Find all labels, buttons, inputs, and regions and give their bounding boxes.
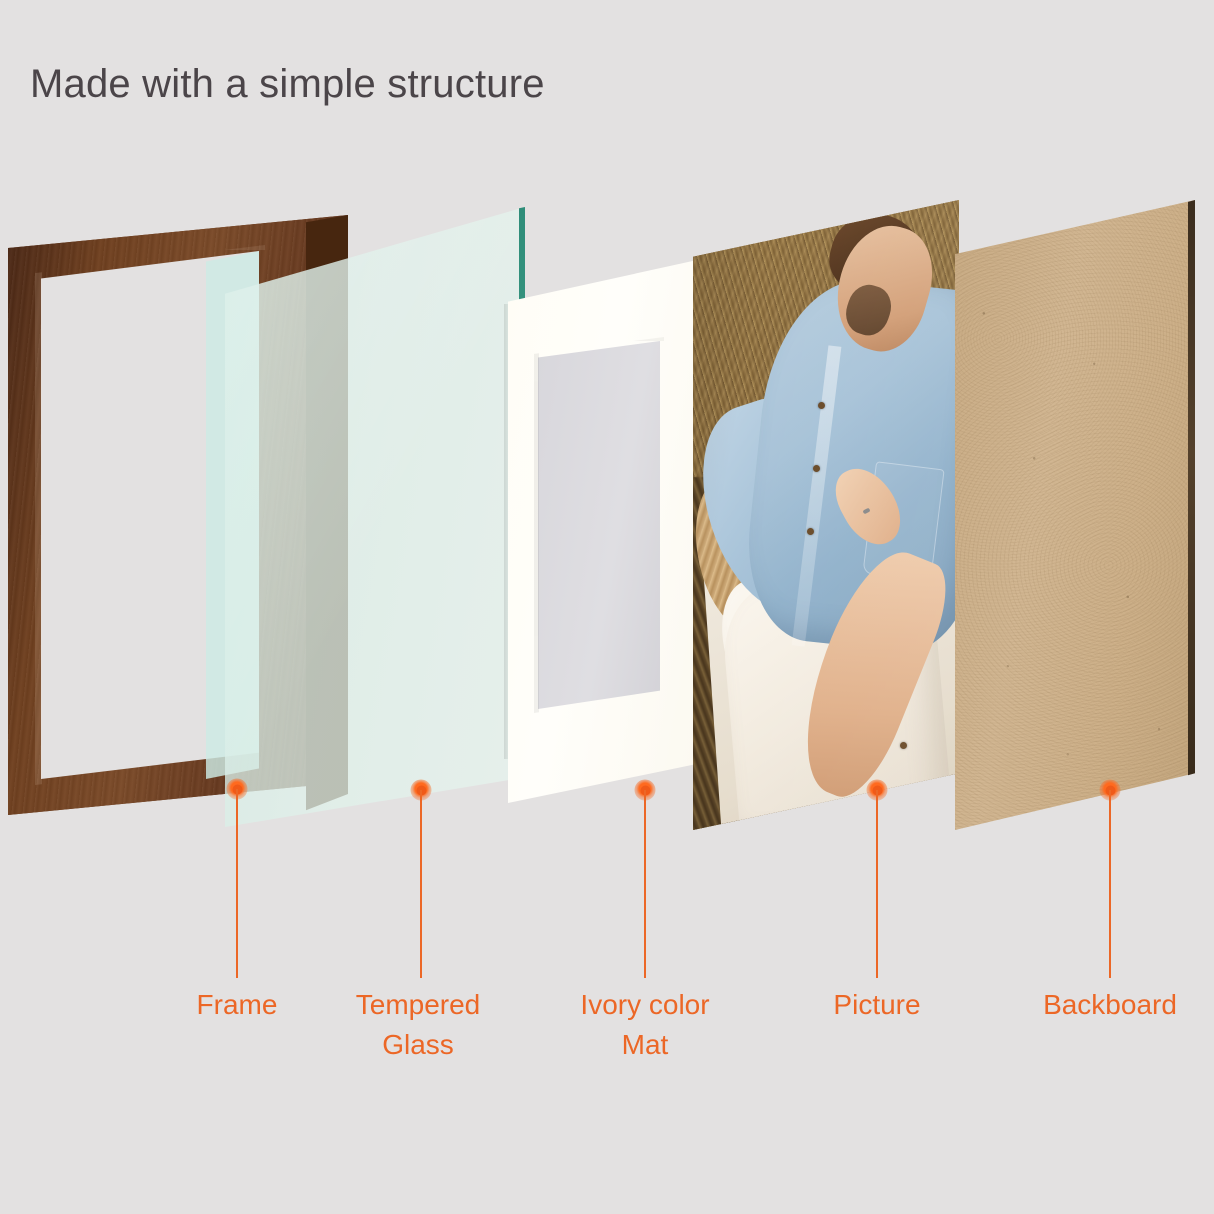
callout-leader-backboard bbox=[1109, 790, 1111, 978]
callout-leader-mat bbox=[644, 790, 646, 978]
layer-tempered-glass[interactable] bbox=[225, 207, 525, 827]
backboard-right-edge bbox=[1188, 200, 1195, 830]
callout-leader-frame bbox=[236, 789, 238, 978]
callout-leader-glass bbox=[420, 790, 422, 978]
backboard-texture bbox=[955, 200, 1195, 830]
callout-label-mat[interactable]: Ivory color Mat bbox=[580, 985, 709, 1065]
exploded-frame-assembly bbox=[0, 0, 1214, 900]
layer-backboard[interactable] bbox=[955, 200, 1195, 830]
photo-shading bbox=[693, 200, 959, 830]
callout-label-frame[interactable]: Frame bbox=[197, 985, 278, 1025]
glass-highlight bbox=[225, 207, 525, 827]
callout-leader-picture bbox=[876, 790, 878, 978]
callout-label-glass[interactable]: Tempered Glass bbox=[356, 985, 481, 1065]
layer-picture[interactable] bbox=[693, 200, 959, 830]
diagram-canvas: Made with a simple structure bbox=[0, 0, 1214, 1214]
callout-label-backboard[interactable]: Backboard bbox=[1043, 985, 1177, 1025]
layer-ivory-mat[interactable] bbox=[508, 255, 720, 803]
photograph bbox=[693, 200, 959, 830]
callout-label-picture[interactable]: Picture bbox=[833, 985, 920, 1025]
mat-window-bevel bbox=[534, 337, 664, 713]
